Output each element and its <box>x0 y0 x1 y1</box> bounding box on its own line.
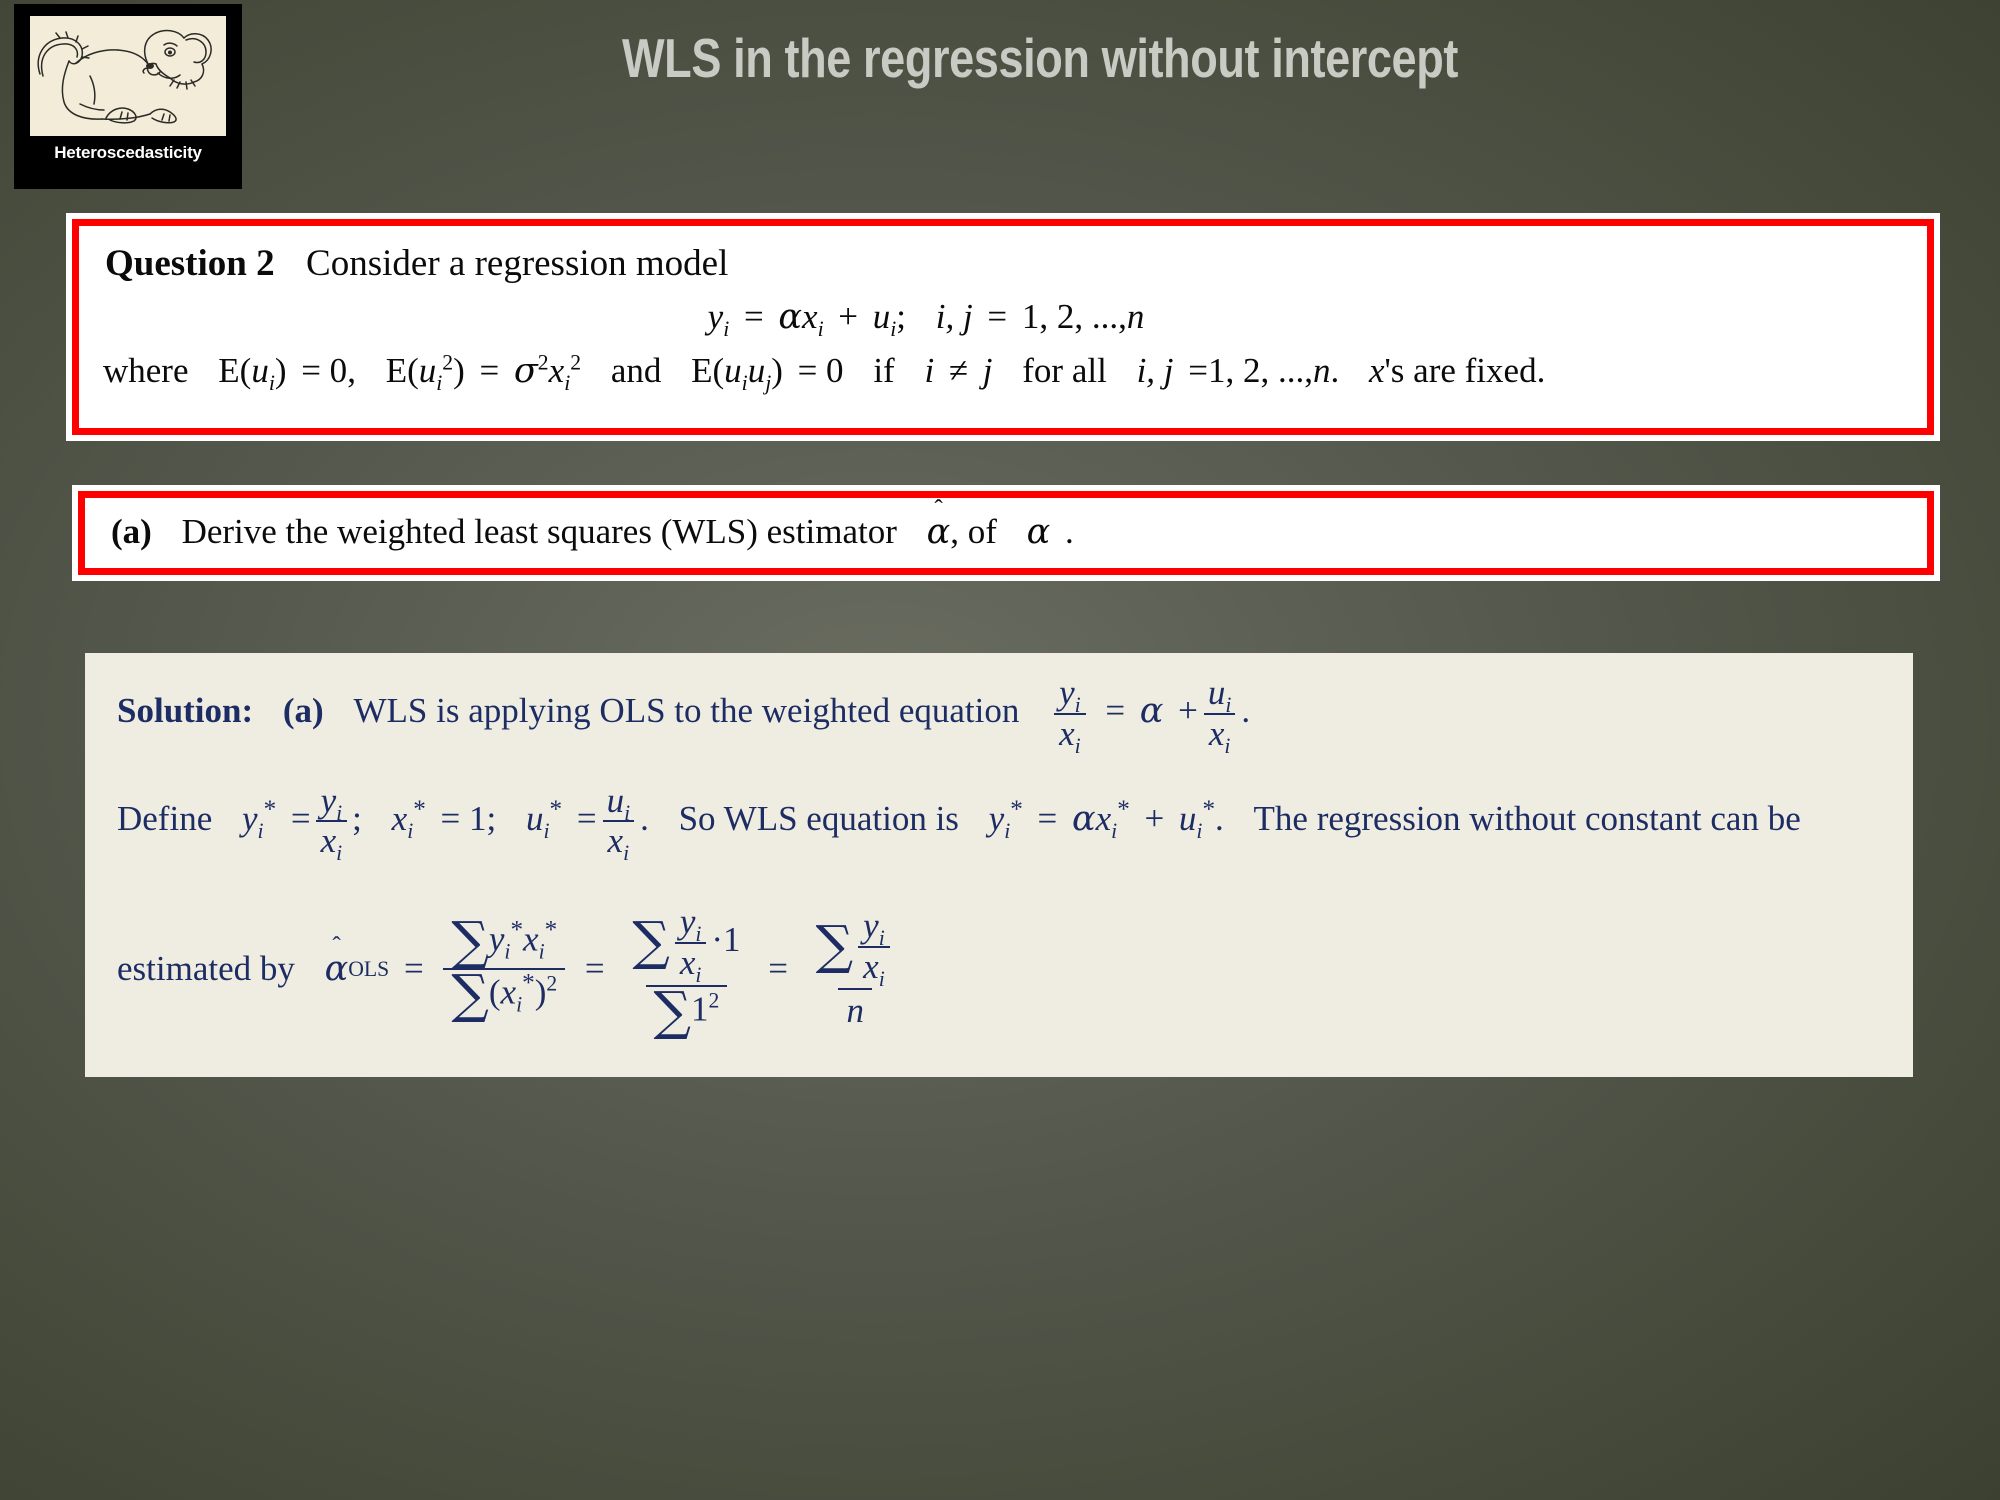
ystar-y: y <box>242 798 258 837</box>
line2-period2: . <box>1215 798 1224 837</box>
eq-y-sub: i <box>723 317 729 341</box>
alpha-hat-symbol: ˆα <box>927 512 951 552</box>
f1-y-star: * <box>510 917 523 944</box>
frac1-den-x: x <box>1059 714 1075 753</box>
question-panel: Question 2Consider a regression model yi… <box>72 219 1934 435</box>
hat-accent-ols: ˆ <box>332 933 340 961</box>
f2-x: x <box>680 943 696 982</box>
f1-y: y <box>489 920 505 959</box>
fraction-denominator: ∑(xi*)2 <box>443 968 565 1018</box>
def2-den-sub: i <box>623 841 629 865</box>
def2-num-u: u <box>607 781 625 820</box>
f1-x-star: * <box>545 917 558 944</box>
e2-open: E( <box>386 351 419 390</box>
fraction-numerator: ui <box>602 783 636 821</box>
e3-open: E( <box>691 351 724 390</box>
solution-panel: Solution:(a)WLS is applying OLS to the w… <box>85 653 1913 1077</box>
e3-value: = 0 <box>798 351 844 390</box>
where-label: where <box>103 351 189 390</box>
summation-symbol: ∑ <box>451 920 488 965</box>
f2-den-sup: 2 <box>709 988 720 1012</box>
e1-u: u <box>251 351 269 390</box>
eq-n: n <box>1127 297 1145 336</box>
summation-symbol: ∑ <box>654 990 691 1035</box>
solution-line1-text: WLS is applying OLS to the weighted equa… <box>353 691 1019 730</box>
for-all-label: for all <box>1022 351 1107 390</box>
xstar-star: * <box>413 796 426 823</box>
e1-close: ) <box>275 351 287 390</box>
eq-alpha: α <box>778 297 802 337</box>
eq-equals2: = <box>987 297 1007 336</box>
part-a-question-text: (a)Derive the weighted least squares (WL… <box>111 512 1915 552</box>
f1-den-x: x <box>501 972 517 1011</box>
inner-fraction-y-over-x-2: yixi <box>858 908 890 986</box>
where-n: n <box>1313 351 1331 390</box>
e1-open: E( <box>218 351 251 390</box>
estimated-by-label: estimated by <box>117 949 295 989</box>
xstar-x: x <box>392 798 408 837</box>
wls-x-star: * <box>1117 796 1130 823</box>
fraction-u-over-x-def: uixi <box>602 783 636 861</box>
wls-u-star: * <box>1202 796 1215 823</box>
wls-x: x <box>1096 798 1112 837</box>
sigma-symbol: σ <box>514 351 538 391</box>
fraction-numerator: ∑yi*xi* <box>443 920 565 968</box>
eq-indices: i, j <box>936 297 973 336</box>
e1-value: = 0 <box>301 351 347 390</box>
summation-symbol: ∑ <box>451 973 488 1018</box>
fraction-sum-ystar-xstar: ∑yi*xi* ∑(xi*)2 <box>443 920 565 1017</box>
where-tail-text: 's are fixed. <box>1385 351 1546 390</box>
line3-eq2: = <box>585 949 605 989</box>
def2-den-x: x <box>608 821 624 860</box>
hat-accent: ˆ <box>934 496 942 524</box>
line1-equals: = <box>1105 691 1125 730</box>
page-title: WLS in the regression without intercept <box>433 26 1647 90</box>
summation-symbol: ∑ <box>632 920 669 965</box>
fraction-numerator: ∑yixi <box>808 908 903 989</box>
fraction-numerator: yi <box>675 904 707 942</box>
frac1-den-sub: i <box>1075 734 1081 758</box>
where-i: i <box>924 351 934 390</box>
paren-open: ( <box>489 972 501 1011</box>
alpha-glyph-2: α <box>1027 512 1051 552</box>
e3-close: ) <box>771 351 783 390</box>
where-j: j <box>983 351 993 390</box>
solution-line-1: Solution:(a)WLS is applying OLS to the w… <box>117 675 1887 753</box>
sigma-sup: 2 <box>538 350 549 374</box>
f3-den-n: n <box>846 991 864 1030</box>
fraction-numerator: yi <box>858 908 890 946</box>
eq-y: y <box>708 297 724 336</box>
def-den-sub: i <box>336 841 342 865</box>
where-indices: i, j <box>1137 351 1174 390</box>
where-x-tail: x <box>1369 351 1385 390</box>
where-equals: = <box>1188 351 1208 390</box>
line1-period: . <box>1241 691 1250 730</box>
line2-eq1: = <box>291 798 311 837</box>
eq-range: 1, 2, ..., <box>1022 297 1127 336</box>
wls-u: u <box>1179 798 1197 837</box>
eq-plus: + <box>838 297 858 336</box>
e2-sub: i <box>436 371 442 395</box>
where-comma: , <box>347 351 356 390</box>
question-assumptions-line: whereE(ui)= 0,E(ui2)=σ2xi2andE(uiuj)= 0i… <box>103 351 1915 391</box>
f1-den-star: * <box>522 970 535 997</box>
question-heading: Question 2Consider a regression model <box>105 242 1915 285</box>
question-model-equation: yi=αxi+ui;i, j=1, 2, ...,n <box>97 297 1915 337</box>
fraction-u-over-x: uixi <box>1203 675 1237 753</box>
part-a-label: (a) <box>111 512 152 551</box>
f1-den-sup: 2 <box>546 972 557 996</box>
part-a-text: Derive the weighted least squares (WLS) … <box>182 512 897 551</box>
wls-equals: = <box>1038 798 1058 837</box>
solution-part-label: (a) <box>283 691 324 730</box>
e3-u2: u <box>748 351 766 390</box>
fraction-denominator: xi <box>1204 713 1236 753</box>
e2-u: u <box>419 351 437 390</box>
fraction-sum-y-over-x-dot-one: ∑yixi·1 ∑12 <box>624 904 748 1034</box>
fraction-denominator: ∑12 <box>646 985 728 1035</box>
f1-x: x <box>523 920 539 959</box>
wls-alpha: α <box>1072 798 1096 838</box>
solution-line-3: estimated by ˆαOLS = ∑yi*xi* ∑(xi*)2 = ∑… <box>117 904 1887 1034</box>
inner-fraction-y-over-x: yixi <box>675 904 707 982</box>
xstar-value: = 1 <box>441 798 487 837</box>
fraction-numerator: ∑yixi·1 <box>624 904 748 985</box>
line1-alpha: α <box>1140 691 1164 731</box>
f2-y: y <box>680 902 696 941</box>
fraction-denominator: xi <box>1054 713 1086 753</box>
fraction-numerator: yi <box>316 783 348 821</box>
paren-close: ) <box>535 972 547 1011</box>
part-a-of-text: , of <box>950 512 997 551</box>
question-label: Question 2 <box>105 243 275 284</box>
slide-canvas: Heteroscedasticity WLS in the regression… <box>0 0 2000 1500</box>
def-den-x: x <box>321 821 337 860</box>
line1-plus: + <box>1178 691 1198 730</box>
line3-eq3: = <box>768 949 788 989</box>
eq-equals: = <box>744 297 764 336</box>
def-num-y: y <box>321 781 337 820</box>
f3-x: x <box>863 947 879 986</box>
frac2-num-u: u <box>1208 673 1226 712</box>
e2-x-sup: 2 <box>570 350 581 374</box>
f2-x-sub: i <box>695 963 701 987</box>
e2-sup: 2 <box>442 350 453 374</box>
fraction-denominator: xi <box>603 820 635 860</box>
wls-plus: + <box>1144 798 1164 837</box>
e3-u1: u <box>724 351 742 390</box>
line2-semi1: ; <box>352 798 362 837</box>
fraction-numerator: yi <box>1054 675 1086 713</box>
line2-end-text: The regression without constant can be <box>1254 798 1801 837</box>
ustar-star: * <box>550 796 563 823</box>
dot-times-one: ·1 <box>711 920 740 959</box>
where-period: . <box>1330 351 1339 390</box>
line2-semi2: ; <box>487 798 497 837</box>
fraction-y-over-x-def: yixi <box>316 783 348 861</box>
f3-x-sub: i <box>879 967 885 991</box>
logo-box: Heteroscedasticity <box>14 4 242 189</box>
not-equal-symbol: ≠ <box>949 351 968 390</box>
eq-semicolon: ; <box>896 297 906 336</box>
f3-y: y <box>863 906 879 945</box>
eq-x-sub: i <box>818 317 824 341</box>
question-heading-text: Consider a regression model <box>306 243 728 284</box>
frac1-num-y: y <box>1059 673 1075 712</box>
frac2-den-x: x <box>1209 714 1225 753</box>
fraction-y-over-x: yixi <box>1054 675 1086 753</box>
where-range: 1, 2, ..., <box>1208 351 1313 390</box>
wls-y-star: * <box>1010 796 1023 823</box>
e2-close: ) <box>453 351 465 390</box>
e2-x-sub: i <box>564 371 570 395</box>
e2-x: x <box>549 351 565 390</box>
solution-label: Solution: <box>117 691 253 730</box>
line3-eq1: = <box>404 949 424 989</box>
wls-y: y <box>989 798 1005 837</box>
solution-line-2: Defineyi*=yixi;xi*= 1;ui*=uixi.So WLS eq… <box>117 783 1887 861</box>
and-label: and <box>611 351 662 390</box>
part-a-panel: (a)Derive the weighted least squares (WL… <box>78 491 1934 575</box>
fraction-numerator: ui <box>1203 675 1237 713</box>
fraction-sum-y-over-x-over-n: ∑yixi n <box>808 908 903 1030</box>
fraction-denominator: xi <box>858 946 890 986</box>
part-a-period: . <box>1065 512 1074 551</box>
if-label: if <box>873 351 894 390</box>
line2-period1: . <box>640 798 649 837</box>
f2-den-one: 1 <box>691 989 709 1028</box>
eq-u: u <box>873 297 891 336</box>
ystar-star: * <box>264 796 277 823</box>
define-label: Define <box>117 798 212 837</box>
dog-line-drawing-icon <box>30 16 226 136</box>
line2-mid-text: So WLS equation is <box>679 798 959 837</box>
ustar-u: u <box>526 798 544 837</box>
summation-symbol: ∑ <box>816 924 853 969</box>
frac2-den-sub: i <box>1224 734 1230 758</box>
line2-eq3: = <box>577 798 597 837</box>
e2-equals: = <box>479 351 499 390</box>
fraction-denominator: n <box>838 988 872 1030</box>
fraction-denominator: xi <box>316 820 348 860</box>
logo-caption: Heteroscedasticity <box>54 143 202 163</box>
eq-x: x <box>802 297 818 336</box>
alpha-hat-ols: ˆα <box>325 949 349 989</box>
fraction-denominator: xi <box>675 942 707 982</box>
